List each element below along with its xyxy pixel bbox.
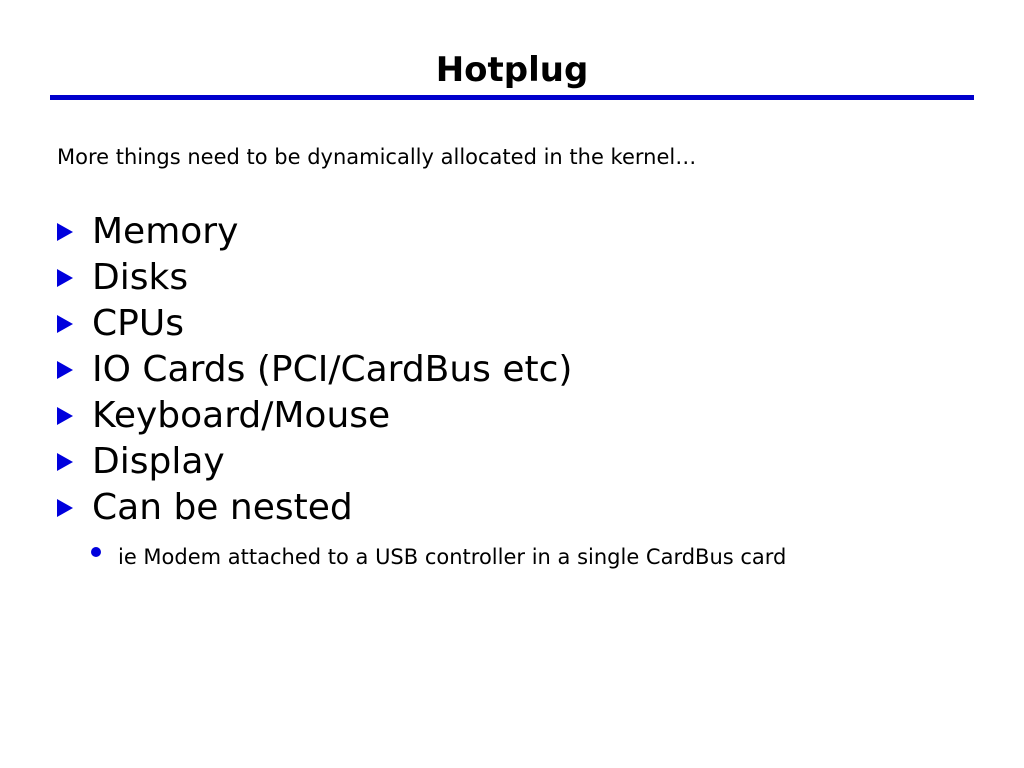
triangle-right-bullet-icon	[57, 361, 73, 379]
list-item: Memory	[55, 209, 985, 255]
triangle-right-bullet-icon	[57, 407, 73, 425]
bullet-label: Disks	[92, 257, 188, 299]
list-item: Display	[55, 439, 985, 485]
slide-canvas: Hotplug More things need to be dynamical…	[0, 0, 1024, 768]
list-item: Keyboard/Mouse	[55, 393, 985, 439]
list-item: Can be nested	[55, 485, 985, 531]
sub-bullet-label: ie Modem attached to a USB controller in…	[118, 545, 786, 569]
bullet-list: Memory Disks CPUs IO Cards (PCI/CardBus …	[55, 209, 985, 531]
slide-title: Hotplug	[0, 50, 1024, 90]
triangle-right-bullet-icon	[57, 499, 73, 517]
bullet-label: IO Cards (PCI/CardBus etc)	[92, 349, 572, 391]
sub-bullet-list: ie Modem attached to a USB controller in…	[90, 538, 970, 577]
intro-paragraph: More things need to be dynamically alloc…	[57, 143, 957, 171]
list-item: IO Cards (PCI/CardBus etc)	[55, 347, 985, 393]
triangle-right-bullet-icon	[57, 269, 73, 287]
list-item: CPUs	[55, 301, 985, 347]
bullet-label: Can be nested	[92, 487, 353, 529]
triangle-right-bullet-icon	[57, 223, 73, 241]
list-item: Disks	[55, 255, 985, 301]
triangle-right-bullet-icon	[57, 315, 73, 333]
title-underline-rule	[50, 95, 974, 100]
triangle-right-bullet-icon	[57, 453, 73, 471]
bullet-label: Memory	[92, 211, 238, 253]
bullet-label: CPUs	[92, 303, 184, 345]
bullet-label: Display	[92, 441, 225, 483]
list-item: ie Modem attached to a USB controller in…	[90, 538, 970, 577]
bullet-label: Keyboard/Mouse	[92, 395, 390, 437]
dot-bullet-icon	[91, 547, 101, 557]
